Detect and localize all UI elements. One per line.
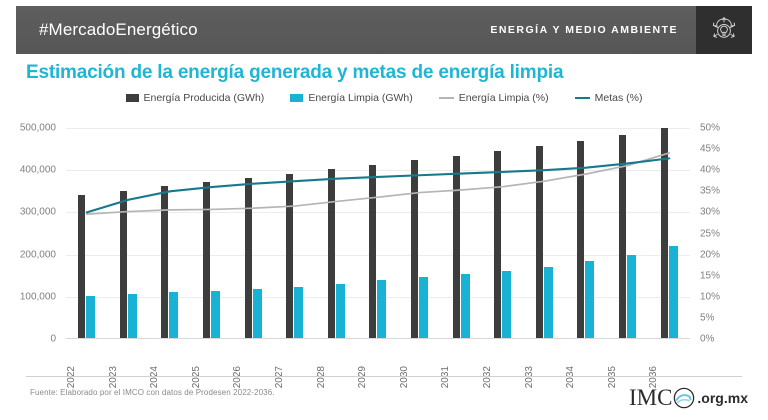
y-axis-right-tick: 0% (700, 334, 714, 345)
footer-divider (26, 376, 742, 377)
logo-text-imc: IMC (629, 386, 672, 409)
chart-plot-area: 0100,000200,000300,000400,000500,000 0%5… (0, 112, 768, 342)
y-axis-left: 0100,000200,000300,000400,000500,000 (0, 128, 62, 339)
y-axis-right-tick: 15% (700, 270, 720, 281)
plot-canvas (66, 128, 690, 339)
legend-swatch-icon (126, 94, 139, 102)
header-subtitle: ENERGÍA Y MEDIO AMBIENTE (490, 24, 678, 36)
legend-item-energia-producida: Energía Producida (GWh) (126, 92, 265, 104)
legend-item-energia-limpia-gwh: Energía Limpia (GWh) (290, 92, 412, 104)
legend-label: Energía Limpia (%) (459, 92, 549, 104)
chart-legend: Energía Producida (GWh) Energía Limpia (… (0, 92, 768, 104)
logo-text-domain: .org.mx (697, 391, 748, 405)
legend-item-metas-pct: Metas (%) (575, 92, 643, 104)
chart-title: Estimación de la energía generada y meta… (26, 62, 563, 84)
legend-label: Energía Producida (GWh) (144, 92, 265, 104)
legend-item-energia-limpia-pct: Energía Limpia (%) (439, 92, 549, 104)
y-axis-left-tick: 300,000 (20, 207, 56, 218)
axis-baseline (66, 338, 690, 339)
legend-label: Energía Limpia (GWh) (308, 92, 412, 104)
legend-line-icon (439, 97, 454, 99)
chart-page: #MercadoEnergético ENERGÍA Y MEDIO AMBIE… (0, 0, 768, 420)
line-series-layer (66, 128, 690, 339)
y-axis-left-tick: 0 (50, 334, 56, 345)
footer-source-note: Fuente: Elaborado por el IMCO con datos … (30, 388, 275, 397)
y-axis-right-tick: 30% (700, 207, 720, 218)
imco-swirl-icon (673, 387, 695, 409)
y-axis-right-tick: 5% (700, 312, 714, 323)
page-header: #MercadoEnergético ENERGÍA Y MEDIO AMBIE… (16, 6, 752, 54)
lightbulb-recycle-icon (707, 13, 741, 47)
y-axis-left-tick: 500,000 (20, 123, 56, 134)
y-axis-left-tick: 200,000 (20, 249, 56, 260)
x-axis: 2022202320242025202620272028202920302031… (66, 340, 690, 388)
y-axis-right-tick: 40% (700, 165, 720, 176)
legend-swatch-icon (290, 94, 303, 102)
y-axis-right-tick: 50% (700, 123, 720, 134)
y-axis-right-tick: 45% (700, 144, 720, 155)
legend-label: Metas (%) (595, 92, 643, 104)
y-axis-left-tick: 100,000 (20, 291, 56, 302)
header-hashtag: #MercadoEnergético (39, 20, 198, 40)
y-axis-right: 0%5%10%15%20%25%30%35%40%45%50% (694, 128, 734, 339)
y-axis-right-tick: 20% (700, 249, 720, 260)
imco-logo: IMC .org.mx (629, 386, 748, 409)
legend-line-icon (575, 97, 590, 99)
y-axis-left-tick: 400,000 (20, 165, 56, 176)
y-axis-right-tick: 25% (700, 228, 720, 239)
header-badge (696, 6, 752, 54)
y-axis-right-tick: 10% (700, 291, 720, 302)
line-energia-limpia-pct (87, 153, 669, 214)
y-axis-right-tick: 35% (700, 186, 720, 197)
line-metas-pct (87, 158, 669, 212)
